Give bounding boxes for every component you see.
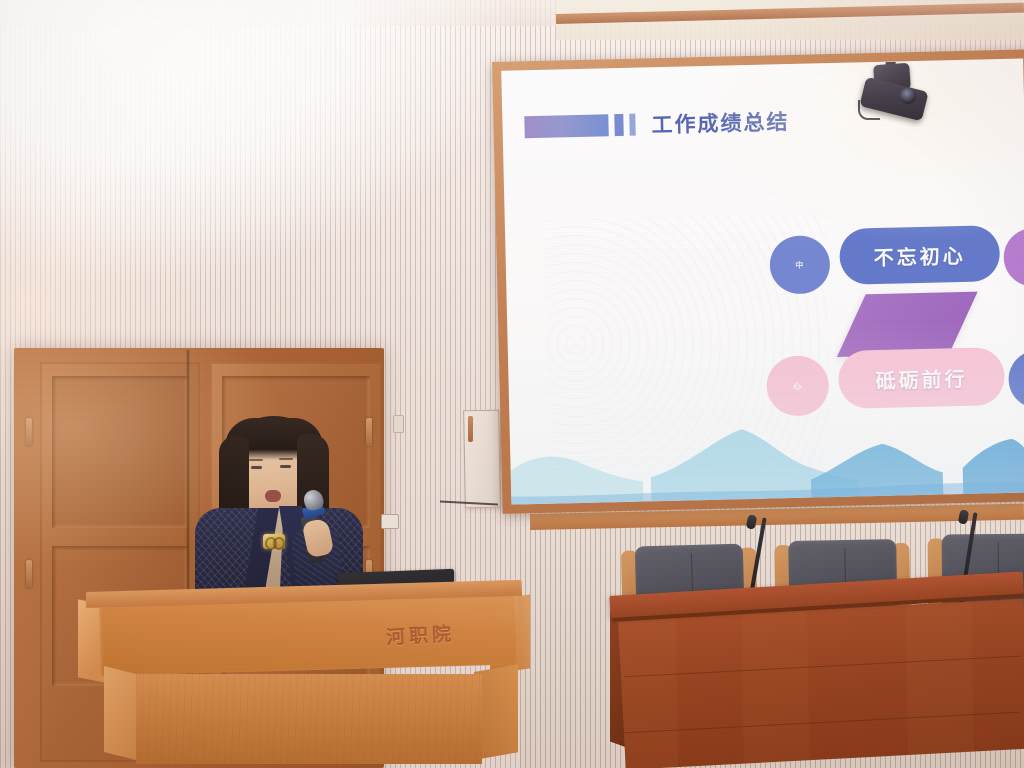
slide-pill-bottom-label: 砥砺前行 xyxy=(875,362,968,393)
slide-pill-top: 不忘初心 xyxy=(839,225,1000,285)
door-panel-upper-left xyxy=(52,376,188,528)
door-hinge-upper xyxy=(26,418,32,446)
wall-outlet xyxy=(381,514,399,529)
title-accent-bar-2-icon xyxy=(629,114,636,136)
slide-title: 工作成绩总结 xyxy=(651,106,790,139)
slide-circle-left-top-label: 中 xyxy=(795,259,804,270)
lectern-podium: 河职院 xyxy=(78,592,530,768)
access-panel-hinge xyxy=(468,416,473,442)
table-front-panel xyxy=(618,599,1024,768)
slide-title-row: 工作成绩总结 xyxy=(524,106,790,142)
presenter-eye-left xyxy=(251,466,262,469)
slide-pill-top-label: 不忘初心 xyxy=(873,239,966,270)
gold-brooch-icon xyxy=(263,534,285,549)
podium-body xyxy=(136,674,482,764)
slide-circle-left-bottom-label: 心 xyxy=(793,380,802,391)
slide-circle-right-top: 牢 xyxy=(1003,228,1024,287)
presenter-eye-right xyxy=(280,465,291,468)
presenter-mouth xyxy=(265,490,281,502)
conference-table xyxy=(610,596,1024,768)
camera-cable xyxy=(858,100,880,120)
slide-mountain-graphic xyxy=(509,396,1024,504)
projected-slide: 工作成绩总结 中 不忘初心 牢 心 砥砺前行 习 xyxy=(501,58,1024,504)
wall-switch xyxy=(393,415,404,433)
conference-hall-photo: 工作成绩总结 中 不忘初心 牢 心 砥砺前行 习 xyxy=(0,0,1024,768)
title-gradient-bar-icon xyxy=(524,114,608,138)
podium-engraved-label: 河职院 xyxy=(385,619,455,650)
title-accent-bar-1-icon xyxy=(614,114,624,136)
door-hinge-lower xyxy=(26,560,32,588)
projection-screen-assembly: 工作成绩总结 中 不忘初心 牢 心 砥砺前行 习 xyxy=(492,49,1024,522)
